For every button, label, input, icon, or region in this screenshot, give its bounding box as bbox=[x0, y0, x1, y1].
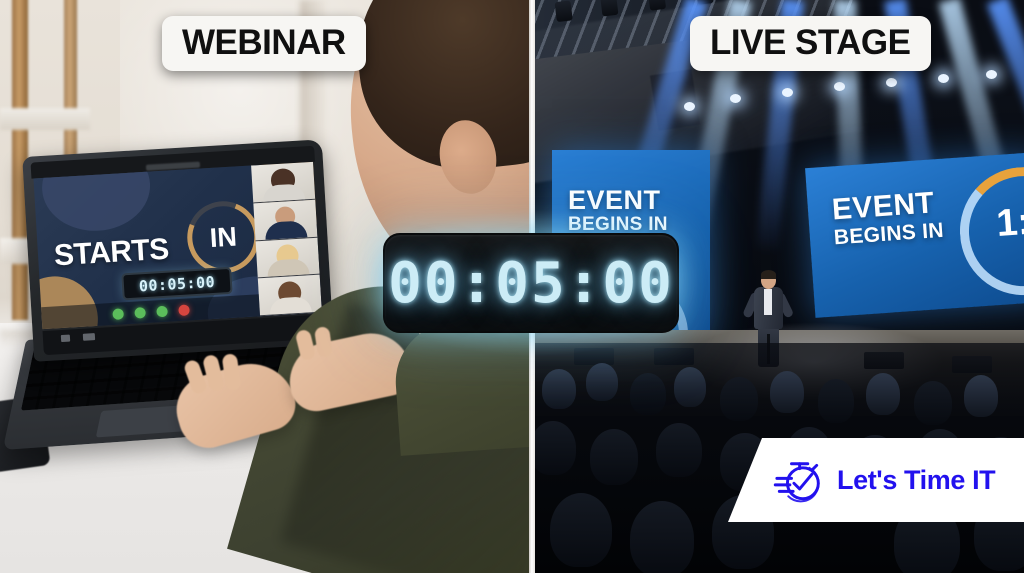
avatar-body bbox=[269, 296, 312, 315]
participant-thumbnail-list bbox=[251, 162, 322, 316]
avatar-body bbox=[267, 258, 310, 277]
audience-head bbox=[914, 381, 952, 425]
participant-thumbnail[interactable] bbox=[253, 200, 317, 241]
avatar-body bbox=[265, 221, 308, 240]
end-call-button[interactable] bbox=[178, 304, 190, 316]
audience-head bbox=[818, 379, 854, 423]
audience-head bbox=[590, 429, 638, 485]
spotlight bbox=[782, 88, 793, 97]
led-right-countdown: 1:0 bbox=[995, 199, 1024, 246]
audience-head bbox=[964, 375, 998, 417]
spotlight bbox=[684, 102, 695, 111]
truss-lamp bbox=[555, 0, 573, 22]
spotlight bbox=[730, 94, 741, 103]
mic-button[interactable] bbox=[112, 308, 124, 320]
webinar-label-text: WEBINAR bbox=[182, 23, 346, 62]
audience-head bbox=[866, 373, 900, 415]
speaker-hair bbox=[761, 270, 776, 279]
audience-head bbox=[586, 363, 618, 401]
mic-icon bbox=[61, 335, 70, 343]
participant-thumbnail[interactable] bbox=[258, 275, 322, 316]
audience-head bbox=[534, 421, 576, 475]
participant-thumbnail[interactable] bbox=[256, 237, 320, 278]
timer-body: 00:05:00 bbox=[383, 233, 679, 333]
audience-head bbox=[720, 377, 758, 421]
truss-lamp bbox=[600, 0, 618, 17]
live-stage-label-chip: LIVE STAGE bbox=[690, 16, 931, 71]
laptop-lid: STARTS IN 00:05:00 bbox=[22, 139, 334, 361]
camera-icon bbox=[83, 333, 95, 341]
truss-lamp bbox=[648, 0, 666, 11]
audience-head bbox=[770, 371, 804, 413]
webinar-screen: STARTS IN 00:05:00 bbox=[33, 162, 321, 329]
share-screen-button[interactable] bbox=[156, 305, 168, 317]
audience-head bbox=[656, 423, 702, 477]
spotlight bbox=[834, 82, 845, 91]
shelf-board-upper bbox=[0, 108, 90, 130]
video-button[interactable] bbox=[134, 307, 146, 319]
screenshot-canvas: STARTS IN 00:05:00 bbox=[0, 0, 1024, 573]
avatar-body bbox=[262, 183, 305, 202]
audience-head bbox=[630, 373, 666, 415]
spotlight bbox=[886, 78, 897, 87]
live-stage-label-text: LIVE STAGE bbox=[710, 23, 911, 62]
speaker-shirt bbox=[764, 289, 772, 315]
participant-thumbnail[interactable] bbox=[251, 162, 315, 203]
spotlight bbox=[986, 70, 997, 79]
webinar-label-chip: WEBINAR bbox=[162, 16, 366, 71]
brand-logo-banner[interactable]: Let's Time IT bbox=[728, 438, 1024, 522]
audience-head bbox=[674, 367, 706, 407]
webinar-mini-timer-value: 00:05:00 bbox=[138, 272, 215, 294]
led-right-line2: BEGINS IN bbox=[833, 221, 944, 249]
timer-digits: 00:05:00 bbox=[388, 251, 674, 316]
audience-head bbox=[542, 369, 576, 409]
audience-head bbox=[630, 501, 694, 573]
spotlight bbox=[938, 74, 949, 83]
stopwatch-check-icon bbox=[772, 454, 824, 506]
countdown-timer-widget: 00:05:00 bbox=[383, 233, 679, 333]
brand-logo-text: Let's Time IT bbox=[837, 465, 995, 496]
led-screen-right: EVENT BEGINS IN 1:0 bbox=[805, 152, 1024, 318]
webinar-headline: STARTS bbox=[53, 233, 170, 274]
webinar-ring-label: IN bbox=[185, 199, 261, 275]
audience-head bbox=[550, 493, 612, 567]
